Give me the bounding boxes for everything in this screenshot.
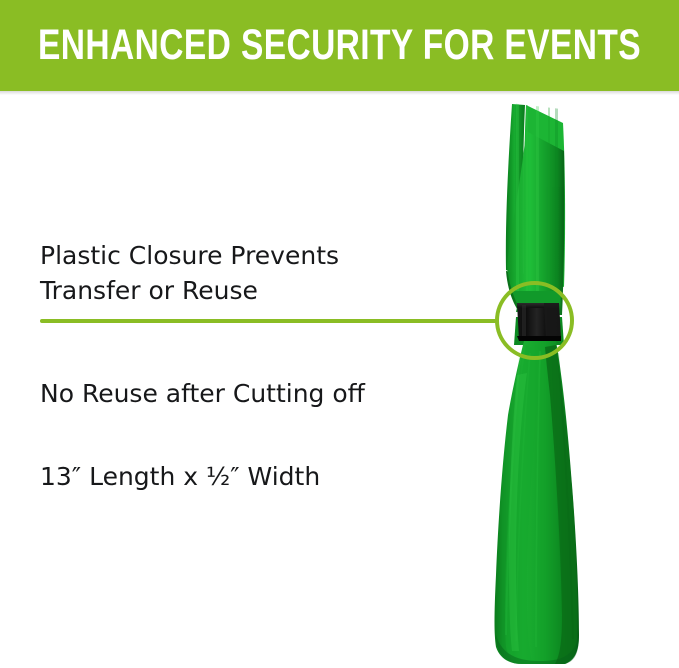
leader-line-icon	[40, 319, 498, 323]
feature-dimensions: 13″ Length x ½″ Width	[40, 462, 320, 492]
header-banner: ENHANCED SECURITY FOR EVENTS	[0, 0, 679, 91]
callout-line-2: Transfer or Reuse	[40, 273, 440, 308]
callout-line-1: Plastic Closure Prevents	[40, 238, 440, 273]
product-image-wristband	[460, 95, 640, 668]
closure-group	[517, 303, 561, 341]
callout-text-block: Plastic Closure Prevents Transfer or Reu…	[40, 238, 440, 308]
feature-no-reuse: No Reuse after Cutting off	[40, 379, 365, 409]
page-title: ENHANCED SECURITY FOR EVENTS	[75, 0, 605, 91]
product-info-graphic: ENHANCED SECURITY FOR EVENTS	[0, 0, 679, 668]
